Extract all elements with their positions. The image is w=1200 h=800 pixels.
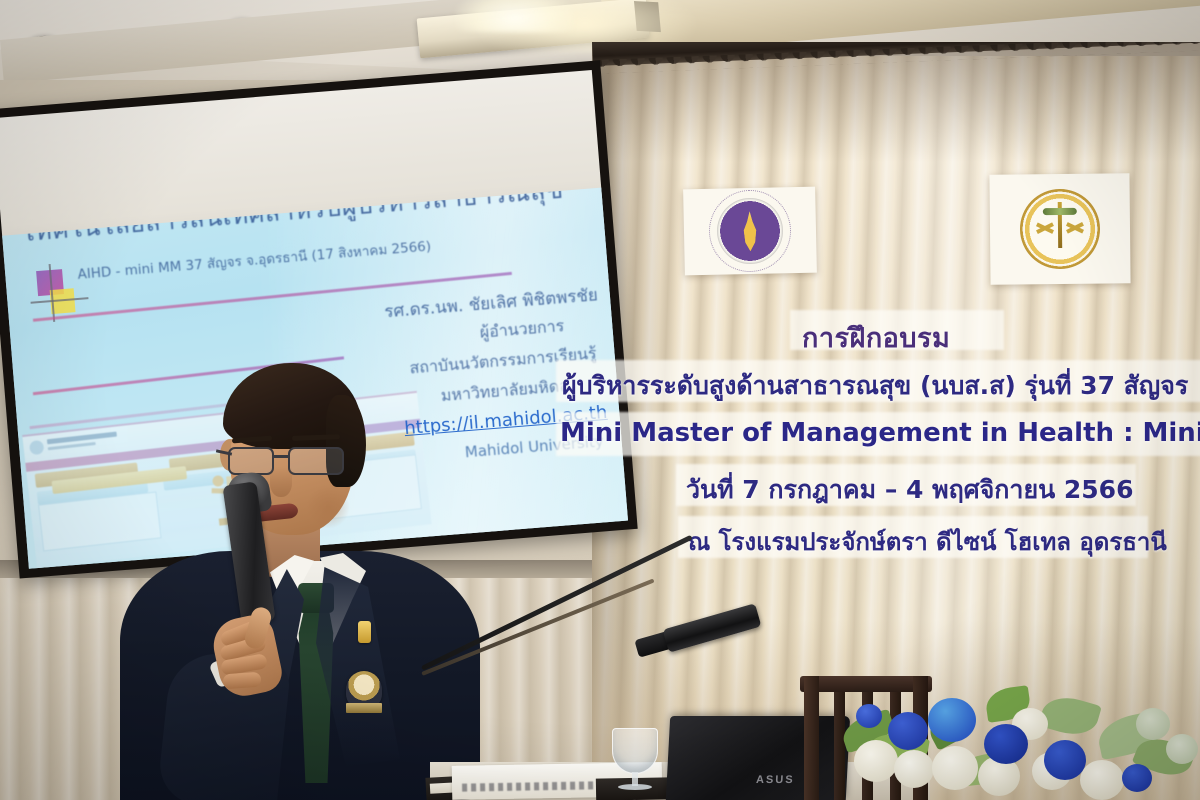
banner-date-line: วันที่ 7 กรกฎาคม – 4 พฤศจิกายน 2566 <box>686 470 1133 510</box>
seal-ring-text <box>708 189 792 273</box>
blue-rose <box>1122 764 1152 792</box>
blue-rose <box>856 704 882 728</box>
blue-rose <box>888 712 928 750</box>
nose <box>270 467 292 497</box>
white-rose <box>1080 760 1124 800</box>
white-rose <box>894 750 934 788</box>
event-banner: การฝึกอบรม ผู้บริหารระดับสูงด้านสาธารณสุ… <box>566 160 1200 580</box>
mahidol-university-seal-card <box>683 187 817 276</box>
badge-nameplate <box>346 703 382 713</box>
conference-photo: เทคโนโลยีสารสนเทศสำหรับผู้บริหารสาธารณสุ… <box>0 0 1200 800</box>
male-presenter <box>120 355 480 800</box>
blue-rose <box>1044 740 1086 780</box>
filler-bud <box>1166 734 1198 764</box>
white-rose <box>932 746 978 790</box>
filler-bud <box>1136 708 1170 740</box>
eyeglasses-bridge <box>274 455 290 458</box>
eyeglasses-lens-left <box>228 447 274 475</box>
eyeglasses-lens-right <box>288 447 344 475</box>
aihd-squares-logo <box>32 268 84 322</box>
caduceus-wings-icon <box>1043 208 1077 215</box>
glass-base <box>618 784 652 790</box>
blue-rose <box>984 724 1028 764</box>
finger <box>223 672 262 690</box>
site-logo-icon <box>29 439 44 454</box>
site-logo-text <box>47 431 117 444</box>
chair-post-left <box>804 676 819 800</box>
asus-brand-logo: ASUS <box>756 774 795 786</box>
blue-white-flower-arrangement <box>836 668 1200 800</box>
cheek-shading <box>306 485 350 529</box>
water-glass <box>612 728 658 788</box>
leaf <box>1038 691 1102 741</box>
ministry-of-public-health-seal-card <box>989 173 1130 284</box>
banner-title: การฝึกอบรม <box>802 316 950 359</box>
blue-rose <box>928 698 976 742</box>
ministry-of-public-health-seal-icon <box>1020 189 1101 270</box>
banner-venue-line: ณ โรงแรมประจักษ์ตรา ดีไซน์ โฮเทล อุดรธาน… <box>688 522 1167 561</box>
banner-program-line: ผู้บริหารระดับสูงด้านสาธารณสุข (นบส.ส) ร… <box>562 366 1188 406</box>
light-hotspot <box>455 0 575 32</box>
gold-lapel-pin-icon <box>358 621 371 643</box>
white-rose <box>854 740 898 782</box>
glass-bowl <box>612 728 658 774</box>
banner-program-line-en: Mini Master of Management in Health : Mi… <box>560 418 1200 448</box>
